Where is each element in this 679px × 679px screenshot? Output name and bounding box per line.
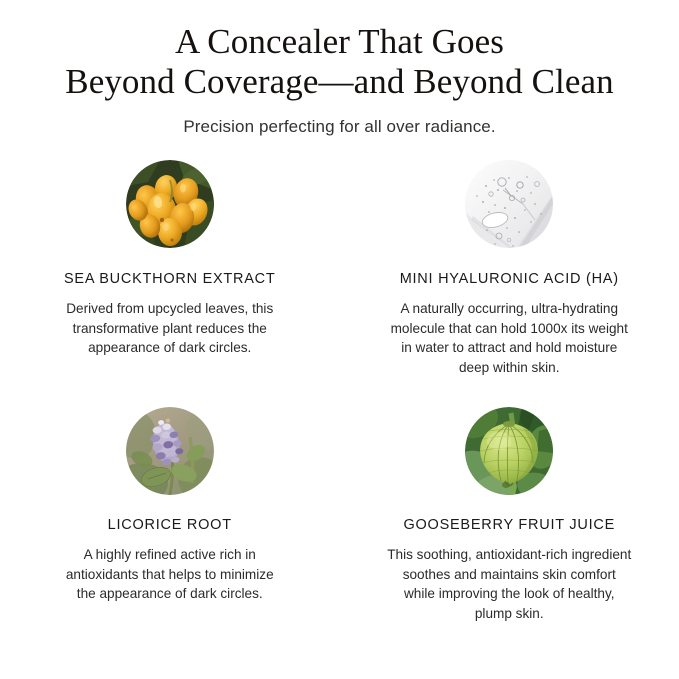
ingredient-description: A highly refined active rich in antioxid…: [66, 545, 274, 604]
ingredient-benefits-panel: A Concealer That Goes Beyond Coverage—an…: [0, 0, 679, 679]
description-line: A highly refined active rich in: [66, 545, 274, 565]
headline-line-1: A Concealer That Goes: [18, 22, 661, 62]
ingredient-card-licorice-root: LICORICE ROOT A highly refined active ri…: [0, 407, 340, 623]
description-line: antioxidants that helps to minimize: [66, 565, 274, 585]
ingredient-card-gooseberry: GOOSEBERRY FRUIT JUICE This soothing, an…: [340, 407, 679, 623]
description-line: the appearance of dark circles.: [66, 584, 274, 604]
description-line: plump skin.: [387, 604, 631, 624]
description-line: in water to attract and hold moisture: [391, 338, 628, 358]
ingredient-description: A naturally occurring, ultra-hydrating m…: [391, 299, 628, 377]
gooseberry-fruit-photo: [465, 407, 553, 495]
description-line: This soothing, antioxidant-rich ingredie…: [387, 545, 631, 565]
ingredient-title: SEA BUCKTHORN EXTRACT: [64, 270, 276, 288]
sea-buckthorn-berries-photo: [126, 160, 214, 248]
page-title: A Concealer That Goes Beyond Coverage—an…: [0, 22, 679, 102]
ingredient-title: GOOSEBERRY FRUIT JUICE: [404, 516, 616, 534]
subtitle: Precision perfecting for all over radian…: [0, 116, 679, 138]
ingredient-card-sea-buckthorn: SEA BUCKTHORN EXTRACT Derived from upcyc…: [0, 160, 340, 377]
description-line: A naturally occurring, ultra-hydrating: [391, 299, 628, 319]
headline-line-2: Beyond Coverage—and Beyond Clean: [18, 62, 661, 102]
description-line: appearance of dark circles.: [66, 338, 273, 358]
ingredient-description: This soothing, antioxidant-rich ingredie…: [387, 545, 631, 623]
ingredient-title: MINI HYALURONIC ACID (HA): [400, 270, 619, 288]
licorice-root-flower-photo: [126, 407, 214, 495]
ingredient-title: LICORICE ROOT: [108, 516, 232, 534]
description-line: Derived from upcycled leaves, this: [66, 299, 273, 319]
description-line: molecule that can hold 1000x its weight: [391, 319, 628, 339]
description-line: soothes and maintains skin comfort: [387, 565, 631, 585]
description-line: transformative plant reduces the: [66, 319, 273, 339]
ingredient-description: Derived from upcycled leaves, this trans…: [66, 299, 273, 358]
description-line: while improving the look of healthy,: [387, 584, 631, 604]
ingredient-card-hyaluronic-acid: MINI HYALURONIC ACID (HA) A naturally oc…: [340, 160, 679, 377]
hyaluronic-acid-gel-photo: [465, 160, 553, 248]
description-line: deep within skin.: [391, 358, 628, 378]
ingredient-grid: SEA BUCKTHORN EXTRACT Derived from upcyc…: [0, 160, 679, 623]
header: A Concealer That Goes Beyond Coverage—an…: [0, 0, 679, 138]
